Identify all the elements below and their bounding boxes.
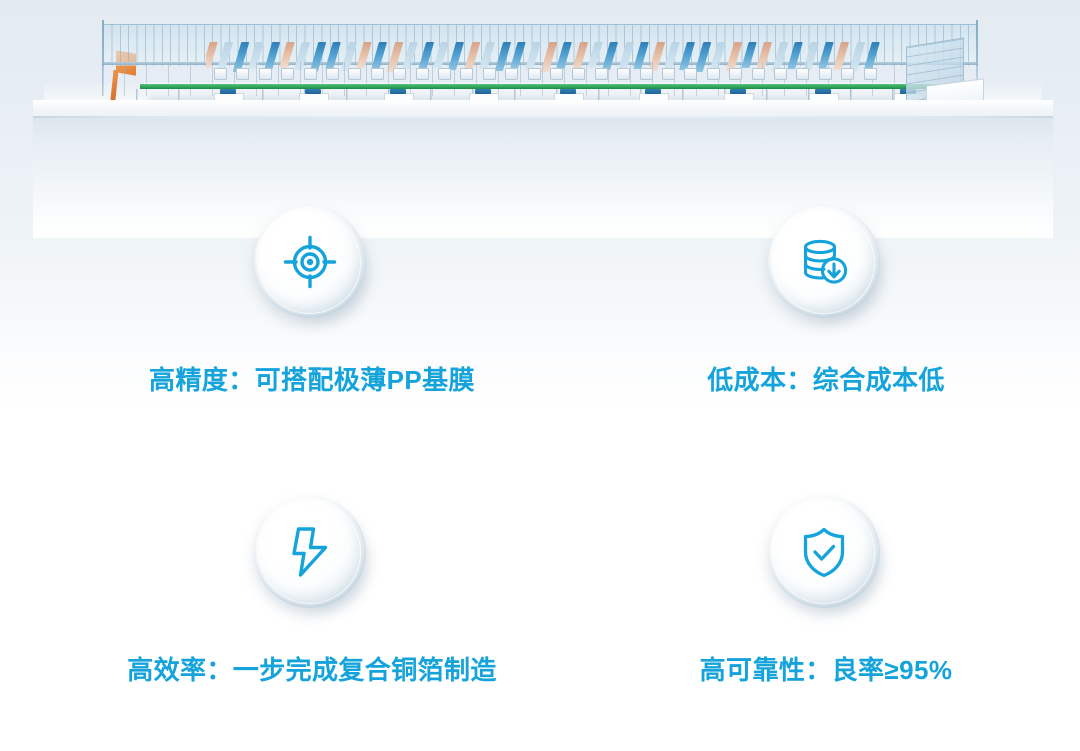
machine-head: [572, 68, 585, 80]
machine-head: [796, 68, 809, 80]
feature-icon-bubble: [254, 496, 370, 612]
feature-icon-bubble: [254, 206, 370, 322]
machine-head: [348, 68, 361, 80]
machine-head: [214, 68, 227, 80]
machine-head: [438, 68, 451, 80]
feature-icon-bubble: [768, 496, 884, 612]
machine-head: [707, 68, 720, 80]
machine-head: [774, 68, 787, 80]
pillar-left: [102, 20, 104, 96]
feature-card-high-reliability[interactable]: 高可靠性：良率≥95%: [556, 496, 1080, 687]
feature-card-low-cost[interactable]: 低成本：综合成本低: [556, 206, 1080, 397]
machine-head: [729, 68, 742, 80]
machine-heads: [214, 68, 882, 82]
machine-head: [393, 68, 406, 80]
lightning-bolt-icon: [254, 496, 366, 608]
machine-head: [505, 68, 518, 80]
feature-grid: 高精度：可搭配极薄PP基膜: [0, 200, 1080, 751]
machine-head: [259, 68, 272, 80]
feature-icon-bubble: [768, 206, 884, 322]
machine-head: [236, 68, 249, 80]
machine-head: [416, 68, 429, 80]
machine-head: [281, 68, 294, 80]
machine-head: [326, 68, 339, 80]
machine-head: [662, 68, 675, 80]
machine-head: [460, 68, 473, 80]
feature-label-high-precision: 高精度：可搭配极薄PP基膜: [42, 364, 582, 397]
machine-head: [684, 68, 697, 80]
feature-card-high-precision[interactable]: 高精度：可搭配极薄PP基膜: [42, 206, 582, 397]
feature-label-low-cost: 低成本：综合成本低: [556, 364, 1080, 397]
target-icon: [254, 206, 366, 318]
machine-head: [752, 68, 765, 80]
machine-head: [528, 68, 541, 80]
feature-label-high-reliability: 高可靠性：良率≥95%: [556, 654, 1080, 687]
shield-check-icon: [768, 496, 880, 608]
feature-card-high-efficiency[interactable]: 高效率：一步完成复合铜箔制造: [42, 496, 582, 687]
machine-head: [550, 68, 563, 80]
feature-label-high-efficiency: 高效率：一步完成复合铜箔制造: [42, 654, 582, 687]
machine-head: [819, 68, 832, 80]
page-root: 高精度：可搭配极薄PP基膜: [0, 0, 1080, 751]
machine-head: [304, 68, 317, 80]
database-download-icon: [768, 206, 880, 318]
machine-head: [841, 68, 854, 80]
machine-head: [483, 68, 496, 80]
machine-head: [371, 68, 384, 80]
conveyor-highlight: [140, 83, 946, 84]
machine-head: [617, 68, 630, 80]
machine-head: [640, 68, 653, 80]
machine-head: [595, 68, 608, 80]
machine-head: [864, 68, 877, 80]
